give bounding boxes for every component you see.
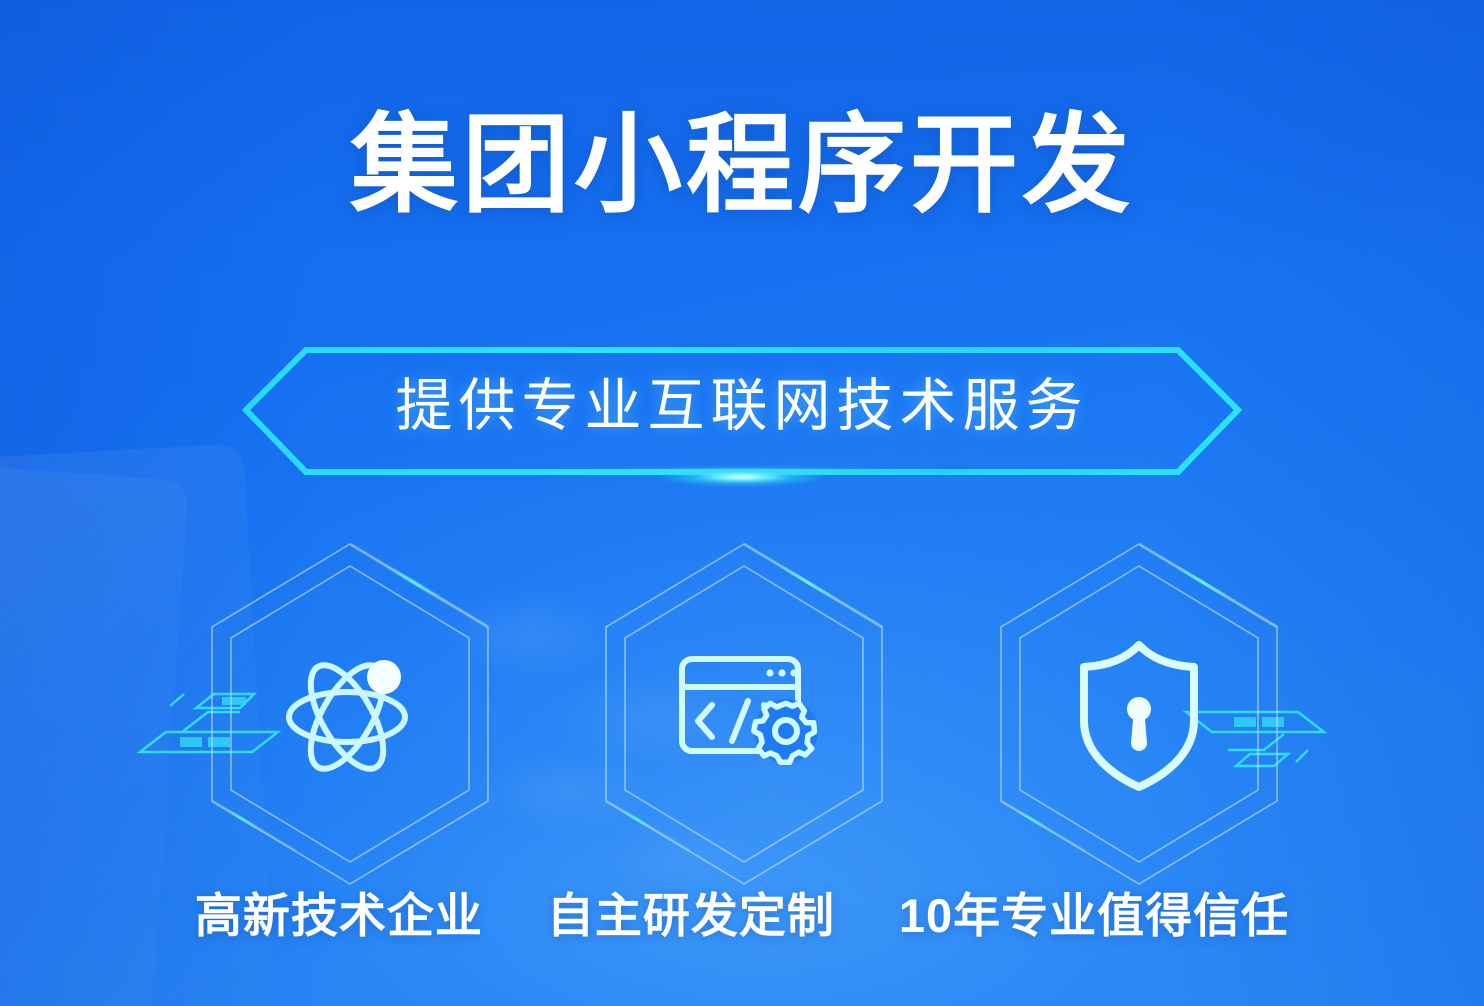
page-subtitle: 提供专业互联网技术服务 bbox=[0, 378, 1484, 435]
feature-hexagon-row bbox=[0, 540, 1484, 900]
promo-banner: 集团小程序开发 bbox=[0, 0, 1484, 1006]
shield-lock-icon bbox=[1054, 629, 1224, 799]
feature-item-1[interactable] bbox=[594, 540, 894, 888]
subtitle-banner: 提供专业互联网技术服务 bbox=[0, 330, 1484, 490]
feature-item-2[interactable] bbox=[989, 540, 1289, 888]
feature-captions: 高新技术企业 自主研发定制 10年专业值得信任 bbox=[0, 892, 1484, 939]
code-gear-icon bbox=[659, 629, 829, 799]
feature-caption-0: 高新技术企业 bbox=[195, 892, 483, 939]
feature-caption-1: 自主研发定制 bbox=[547, 892, 835, 939]
banner-flare-diamond-icon bbox=[627, 455, 857, 499]
feature-item-0[interactable] bbox=[200, 540, 500, 888]
feature-caption-2: 10年专业值得信任 bbox=[899, 892, 1289, 939]
atom-icon bbox=[265, 629, 435, 799]
page-title: 集团小程序开发 bbox=[0, 108, 1484, 222]
